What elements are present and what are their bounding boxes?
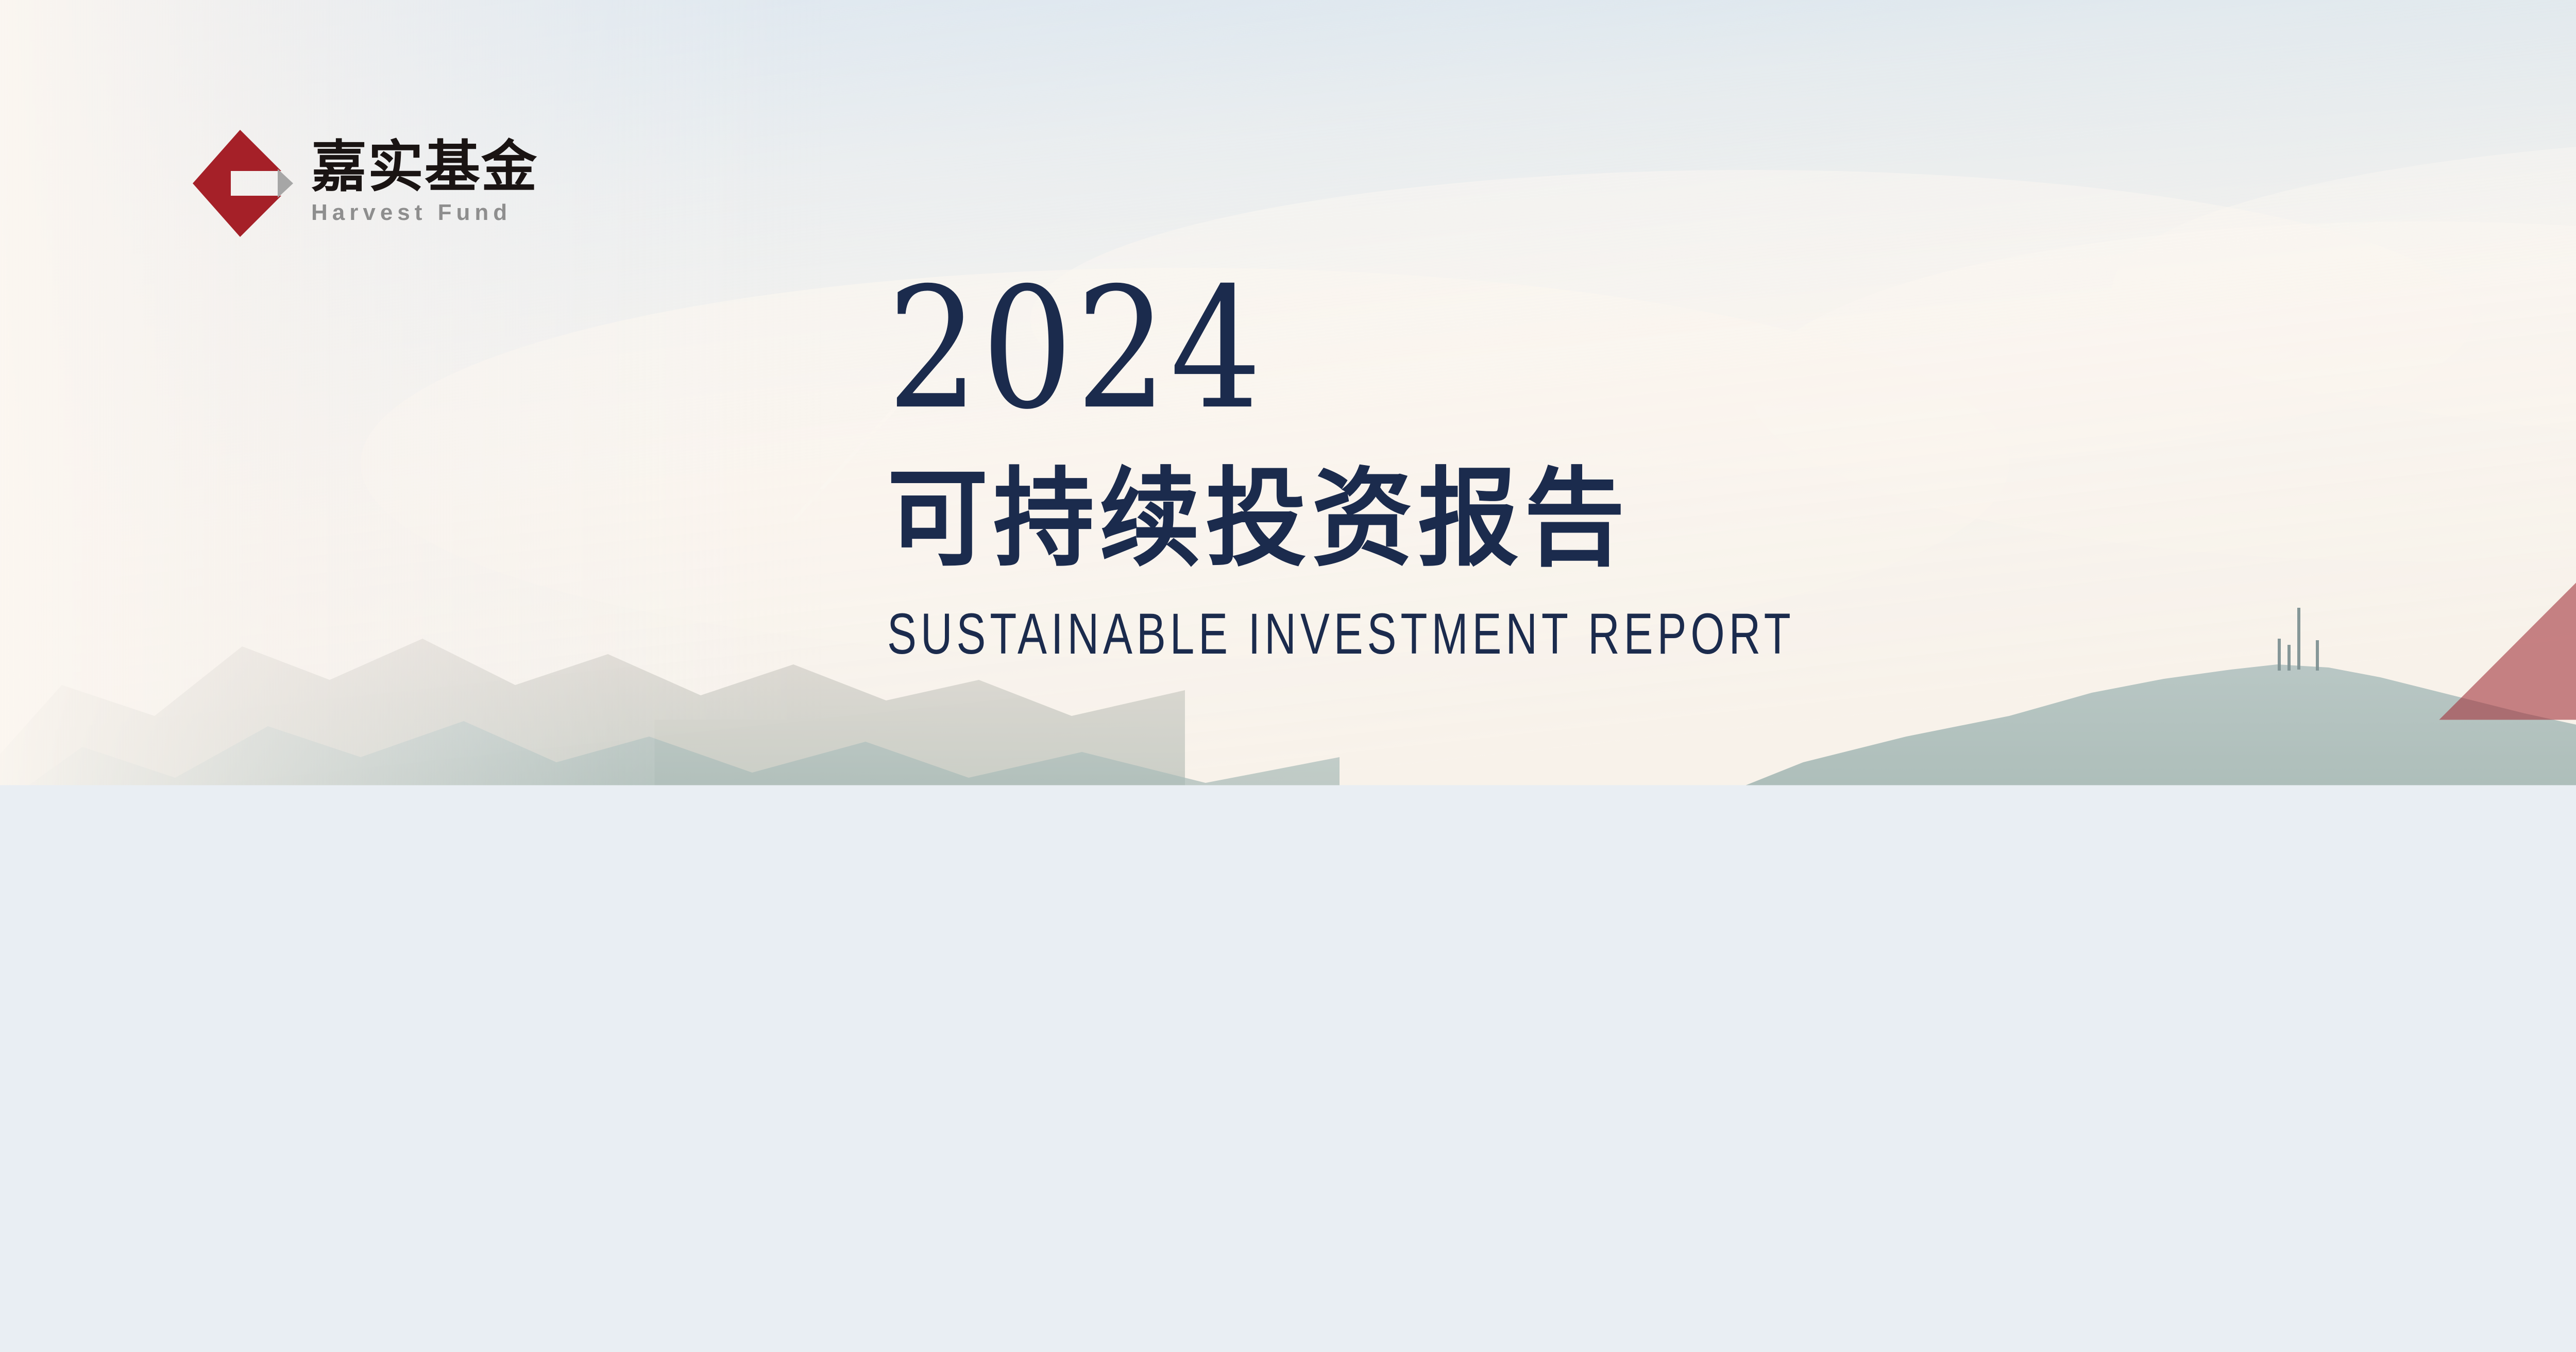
logo-name-cn: 嘉实基金 bbox=[311, 139, 538, 195]
report-cover: 嘉实基金 Harvest Fund 2024 可持续投资报告 SUSTAINAB… bbox=[0, 0, 2576, 1352]
cover-title-block: 2024 可持续投资报告 SUSTAINABLE INVESTMENT REPO… bbox=[887, 266, 1919, 655]
report-title-cn: 可持续投资报告 bbox=[887, 466, 1919, 573]
logo-wordmark: 嘉实基金 Harvest Fund bbox=[311, 139, 538, 226]
report-title-en: SUSTAINABLE INVESTMENT REPORT bbox=[887, 605, 1795, 663]
harvest-fund-logo: 嘉实基金 Harvest Fund bbox=[191, 129, 538, 238]
harvest-diamond-logo-icon bbox=[191, 129, 294, 238]
report-year: 2024 bbox=[887, 266, 1846, 433]
logo-name-en: Harvest Fund bbox=[311, 200, 538, 225]
